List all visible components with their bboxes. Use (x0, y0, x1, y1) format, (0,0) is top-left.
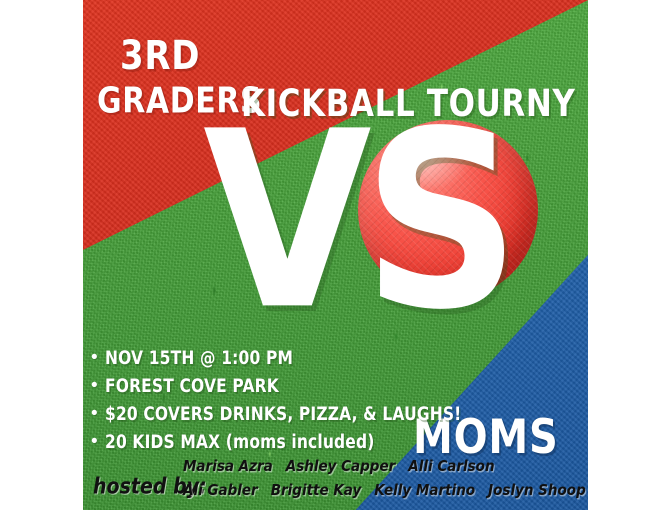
list-item: • 20 KIDS MAX (moms included) (91, 432, 431, 451)
bullet-dot-icon: • (91, 404, 105, 423)
host-name: Kelly Martino (374, 484, 475, 499)
detail-capacity: 20 KIDS MAX (moms included) (105, 433, 374, 452)
hosted-by-section: hosted by: Marisa Azra Ashley Capper All… (83, 458, 588, 510)
host-name: Joslyn Shoop (488, 484, 586, 499)
host-name: Ashley Capper (286, 460, 396, 475)
bullet-dot-icon: • (91, 348, 105, 367)
list-item: • $20 COVERS DRINKS, PIZZA, & LAUGHS! (91, 404, 431, 423)
versus-text: VS (203, 115, 511, 330)
detail-price: $20 COVERS DRINKS, PIZZA, & LAUGHS! (105, 405, 461, 424)
screenshot-canvas: 3RD GRADERS KICKBALL TOURNY VS MOMS • NO… (0, 0, 672, 510)
host-name: Alli Carlson (408, 460, 494, 475)
detail-location: FOREST COVE PARK (105, 377, 279, 396)
team-left-line1: 3RD (120, 36, 200, 76)
host-names-row-1: Marisa Azra Ashley Capper Alli Carlson (183, 460, 495, 474)
bullet-dot-icon: • (91, 376, 105, 395)
host-name: Marisa Azra (183, 460, 273, 475)
list-item: • FOREST COVE PARK (91, 376, 431, 395)
host-name: Brigitte Kay (271, 484, 362, 499)
host-names-row-2: Ali Gabler Brigitte Kay Kelly Martino Jo… (183, 484, 586, 498)
list-item: • NOV 15TH @ 1:00 PM (91, 348, 431, 367)
detail-date-time: NOV 15TH @ 1:00 PM (105, 349, 293, 368)
kickball-tourney-poster: 3RD GRADERS KICKBALL TOURNY VS MOMS • NO… (83, 0, 588, 510)
event-details-list: • NOV 15TH @ 1:00 PM • FOREST COVE PARK … (91, 348, 431, 460)
host-name: Ali Gabler (183, 484, 258, 499)
bullet-dot-icon: • (91, 432, 105, 451)
